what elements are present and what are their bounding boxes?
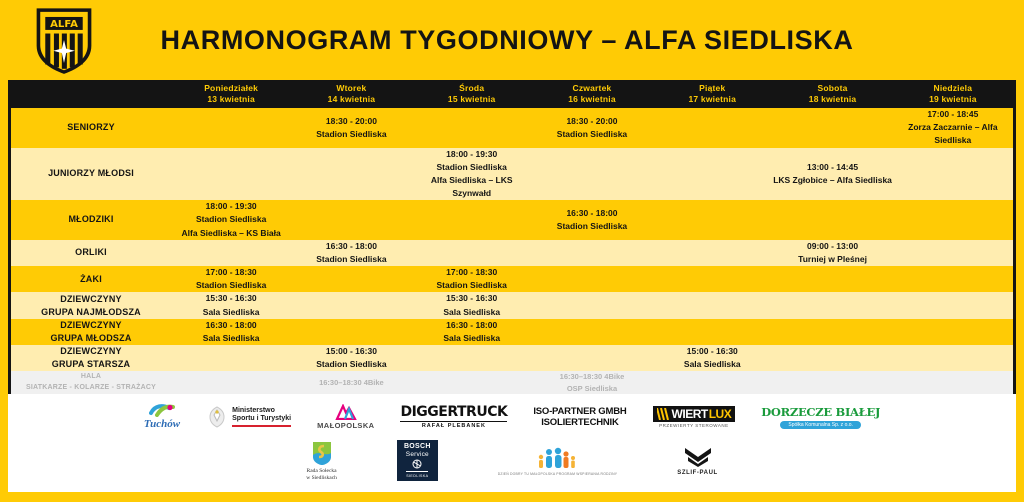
- bosch-armature-icon: [410, 459, 424, 469]
- bosch-line1: BOSCH: [404, 443, 431, 450]
- session-time: 16:30 - 18:00: [412, 319, 532, 332]
- iso-partner-line2: ISOLIERTECHNIK: [541, 417, 618, 428]
- table-row: JUNIORZY MŁODSI18:00 - 19:30Stadion Sied…: [11, 148, 1013, 201]
- day-date-0: 13 kwietnia: [171, 94, 291, 105]
- tuchow-label: Tuchów: [144, 418, 180, 430]
- schedule-cell: 15:00 - 16:30Stadion Siedliska: [291, 345, 411, 371]
- session-place: Sala Siedliska: [171, 306, 291, 319]
- schedule-table-head: Poniedziałek 13 kwietnia Wtorek 14 kwiet…: [11, 80, 1013, 108]
- session-time: 18:00 - 19:30: [171, 200, 291, 213]
- schedule-cell: [893, 240, 1013, 266]
- schedule-cell: 13:00 - 14:45LKS Zgłobice – Alfa Siedlis…: [772, 148, 892, 201]
- day-date-6: 19 kwietnia: [893, 94, 1013, 105]
- schedule-cell: [772, 319, 892, 345]
- session-place: Stadion Siedliska: [412, 279, 532, 292]
- schedule-cell: [772, 200, 892, 240]
- sponsor-logo-dorzecze-bialej: DORZECZE BIAŁEJ Spółka Komunalna Sp. z o…: [761, 405, 880, 429]
- schedule-cell: [412, 240, 532, 266]
- day-name-6: Niedziela: [893, 83, 1013, 94]
- table-row: SENIORZY18:30 - 20:00Stadion Siedliska18…: [11, 108, 1013, 148]
- schedule-cell: [772, 292, 892, 318]
- session-match: Turniej w Pleśnej: [772, 253, 892, 266]
- table-row: ŻAKI17:00 - 18:30Stadion Siedliska17:00 …: [11, 266, 1013, 292]
- day-name-4: Piątek: [652, 83, 772, 94]
- sponsor-logo-ministerstwo: Ministerstwo Sportu i Turystyki: [206, 405, 291, 429]
- day-date-1: 14 kwietnia: [291, 94, 411, 105]
- schedule-cell: [652, 266, 772, 292]
- row-group-label-line2: SIATKARZE - KOLARZE - STRAŻACY: [11, 383, 171, 394]
- day-name-0: Poniedziałek: [171, 83, 291, 94]
- poster-root: ALFA HARMONOGRAM TYGODNIOWY – ALFA SIEDL…: [0, 0, 1024, 496]
- schedule-cell: 18:30 - 20:00Stadion Siedliska: [291, 108, 411, 148]
- schedule-cell: 16:30 - 18:00Sala Siedliska: [171, 319, 291, 345]
- row-group-label-line1: DZIEWCZYNY: [11, 345, 171, 358]
- schedule-cell: [532, 319, 652, 345]
- session-place: Sala Siedliska: [412, 306, 532, 319]
- schedule-cell: 17:00 - 18:30Stadion Siedliska: [171, 266, 291, 292]
- schedule-cell: [772, 371, 892, 394]
- malopolska-mark-icon: [332, 404, 360, 420]
- rada-solecka-text: Rada Sołecka w Siedliskach: [306, 468, 337, 482]
- row-group-label: MŁODZIKI: [11, 200, 171, 240]
- day-date-2: 15 kwietnia: [412, 94, 532, 105]
- session-time: 15:30 - 16:30: [412, 292, 532, 305]
- day-name-3: Czwartek: [532, 83, 652, 94]
- schedule-cell: [532, 148, 652, 201]
- day-date-3: 16 kwietnia: [532, 94, 652, 105]
- row-group-label: DZIEWCZYNYGRUPA STARSZA: [11, 345, 171, 371]
- schedule-cell: [412, 108, 532, 148]
- svg-text:ALFA: ALFA: [50, 19, 78, 30]
- sponsor-logo-malopolska: MAŁOPOLSKA: [317, 404, 374, 430]
- iso-partner-line1: ISO-PARTNER GMBH: [533, 406, 626, 417]
- session-time: 17:00 - 18:30: [412, 266, 532, 279]
- session-time: 17:00 - 18:45: [893, 108, 1013, 121]
- session-time: 15:30 - 16:30: [171, 292, 291, 305]
- ministerstwo-line1: Ministerstwo: [232, 407, 291, 415]
- rada-solecka-crest-icon: [311, 440, 333, 466]
- day-header-5: Sobota 18 kwietnia: [772, 80, 892, 108]
- schedule-cell: 18:00 - 19:30Stadion SiedliskaAlfa Siedl…: [171, 200, 291, 240]
- schedule-cell: [772, 345, 892, 371]
- row-group-label: DZIEWCZYNYGRUPA NAJMŁODSZA: [11, 292, 171, 318]
- schedule-cell: 15:00 - 16:30Sala Siedliska: [652, 345, 772, 371]
- day-date-5: 18 kwietnia: [772, 94, 892, 105]
- schedule-table: Poniedziałek 13 kwietnia Wtorek 14 kwiet…: [11, 80, 1013, 394]
- schedule-cell: [412, 200, 532, 240]
- sponsor-logo-iso-partner: ISO-PARTNER GMBH ISOLIERTECHNIK: [533, 406, 626, 428]
- row-group-label: JUNIORZY MŁODSI: [11, 148, 171, 201]
- schedule-cell: [652, 240, 772, 266]
- session-place: Stadion Siedliska: [412, 161, 532, 174]
- sponsor-logo-wiertlux: WIERTLUX PRZEWIERTY STEROWANE: [653, 406, 736, 428]
- session-place: Sala Siedliska: [412, 332, 532, 345]
- session-time: 15:00 - 16:30: [291, 345, 411, 358]
- day-header-0: Poniedziałek 13 kwietnia: [171, 80, 291, 108]
- day-date-4: 17 kwietnia: [652, 94, 772, 105]
- row-group-label-line2: GRUPA MŁODSZA: [11, 332, 171, 345]
- wiertlux-name2: LUX: [709, 407, 732, 421]
- day-header-1: Wtorek 14 kwietnia: [291, 80, 411, 108]
- session-time: 18:30 - 20:00: [532, 115, 652, 128]
- dorzecze-label: DORZECZE BIAŁEJ: [761, 405, 880, 419]
- schedule-cell: [291, 148, 411, 201]
- schedule-cell: 16:30–18:30 4BikeOSP Siedliska: [532, 371, 652, 394]
- schedule-cell: 16:30 - 18:00Sala Siedliska: [412, 319, 532, 345]
- schedule-cell: [532, 345, 652, 371]
- session-time: 16:30 - 18:00: [532, 207, 652, 220]
- session-place: Stadion Siedliska: [171, 279, 291, 292]
- day-header-3: Czwartek 16 kwietnia: [532, 80, 652, 108]
- sponsor-logo-rada-solecka: Rada Sołecka w Siedliskach: [306, 440, 337, 482]
- schedule-cell: 16:30 - 18:00Stadion Siedliska: [291, 240, 411, 266]
- family-figures-icon: [534, 446, 580, 470]
- table-row: DZIEWCZYNYGRUPA STARSZA15:00 - 16:30Stad…: [11, 345, 1013, 371]
- poster-header: ALFA HARMONOGRAM TYGODNIOWY – ALFA SIEDL…: [0, 0, 1024, 80]
- session-place: Sala Siedliska: [652, 358, 772, 371]
- day-name-1: Wtorek: [291, 83, 411, 94]
- sponsor-row-1: Tuchów Ministerstwo Sportu i Turystyki: [144, 400, 880, 434]
- schedule-cell: [772, 266, 892, 292]
- schedule-cell: 17:00 - 18:45Zorza Zaczarnie – Alfa Sied…: [893, 108, 1013, 148]
- row-group-label: SENIORZY: [11, 108, 171, 148]
- sponsor-logo-szlif-paul: SZLIF-PAUL: [677, 446, 718, 476]
- schedule-cell: [893, 371, 1013, 394]
- session-time: 13:00 - 14:45: [772, 161, 892, 174]
- schedule-cell: [893, 200, 1013, 240]
- session-place: Sala Siedliska: [171, 332, 291, 345]
- schedule-cell: [893, 292, 1013, 318]
- session-match: LKS Zgłobice – Alfa Siedliska: [772, 174, 892, 187]
- schedule-cell: [291, 319, 411, 345]
- schedule-cell: [532, 292, 652, 318]
- sponsor-logo-bosch-service: BOSCH Service SIEDLISKA: [397, 440, 438, 481]
- tuchow-mark-icon: [149, 404, 175, 417]
- session-match: Alfa Siedliska – LKS Szynwałd: [412, 174, 532, 200]
- session-place: Stadion Siedliska: [171, 213, 291, 226]
- schedule-cell: [652, 200, 772, 240]
- schedule-table-wrapper: Poniedziałek 13 kwietnia Wtorek 14 kwiet…: [8, 80, 1016, 394]
- schedule-cell: [893, 319, 1013, 345]
- row-group-label: HALASIATKARZE - KOLARZE - STRAŻACY: [11, 371, 171, 394]
- sponsor-logo-tuchow: Tuchów: [144, 404, 180, 430]
- session-time: 16:30 - 18:00: [171, 319, 291, 332]
- schedule-cell: [652, 292, 772, 318]
- bosch-line3: SIEDLISKA: [406, 471, 428, 478]
- rada-solecka-line1: Rada Sołecka: [307, 468, 337, 474]
- diggertruck-sub: RAFAŁ PLEBANEK: [400, 421, 507, 429]
- session-time: 16:30–18:30 4Bike: [532, 371, 652, 382]
- session-place: Stadion Siedliska: [291, 358, 411, 371]
- schedule-cell: [652, 319, 772, 345]
- schedule-cell: [893, 345, 1013, 371]
- session-match: Zorza Zaczarnie – Alfa Siedliska: [893, 121, 1013, 147]
- group-column-header: [11, 80, 171, 108]
- schedule-cell: [652, 371, 772, 394]
- wiertlux-sub: PRZEWIERTY STEROWANE: [659, 423, 728, 428]
- schedule-cell: 16:30 - 18:00Stadion Siedliska: [532, 200, 652, 240]
- session-time: 18:00 - 19:30: [412, 148, 532, 161]
- schedule-cell: [532, 240, 652, 266]
- schedule-cell: 09:00 - 13:00Turniej w Pleśnej: [772, 240, 892, 266]
- ministerstwo-text: Ministerstwo Sportu i Turystyki: [232, 407, 291, 428]
- session-match: Alfa Siedliska – KS Biała: [171, 227, 291, 240]
- session-time: 15:00 - 16:30: [652, 345, 772, 358]
- row-group-label-line2: GRUPA NAJMŁODSZA: [11, 306, 171, 319]
- schedule-cell: 18:30 - 20:00Stadion Siedliska: [532, 108, 652, 148]
- schedule-cell: 15:30 - 16:30Sala Siedliska: [171, 292, 291, 318]
- diggertruck-label: DIGGERTRUCK: [400, 404, 507, 420]
- sponsor-logo-family-program: DZIEŃ DOBRY TU MAŁOPOLSKA PROGRAM WSPIER…: [498, 446, 618, 477]
- day-header-4: Piątek 17 kwietnia: [652, 80, 772, 108]
- bosch-line2: Service: [406, 451, 429, 458]
- wiertlux-drill-icon: [657, 408, 671, 420]
- session-place: OSP Siedliska: [532, 383, 652, 394]
- sponsor-row-2: Rada Sołecka w Siedliskach BOSCH Service…: [306, 438, 718, 484]
- ministerstwo-line2: Sportu i Turystyki: [232, 415, 291, 423]
- schedule-cell: [291, 266, 411, 292]
- table-row: DZIEWCZYNYGRUPA MŁODSZA16:30 - 18:00Sala…: [11, 319, 1013, 345]
- row-group-label-line2: GRUPA STARSZA: [11, 358, 171, 371]
- alfa-siedliska-crest-icon: ALFA: [28, 4, 100, 76]
- schedule-cell: [171, 345, 291, 371]
- schedule-cell: 17:00 - 18:30Stadion Siedliska: [412, 266, 532, 292]
- wiertlux-name1: WIERT: [672, 407, 708, 421]
- page-title: HARMONOGRAM TYGODNIOWY – ALFA SIEDLISKA: [100, 25, 914, 56]
- rada-solecka-line2: w Siedliskach: [306, 475, 337, 481]
- session-place: Stadion Siedliska: [291, 128, 411, 141]
- table-row: ORLIKI16:30 - 18:00Stadion Siedliska09:0…: [11, 240, 1013, 266]
- schedule-cell: [291, 200, 411, 240]
- session-time: 16:30–18:30 4Bike: [291, 377, 411, 388]
- row-group-label: ŻAKI: [11, 266, 171, 292]
- session-time: 16:30 - 18:00: [291, 240, 411, 253]
- schedule-cell: [893, 266, 1013, 292]
- szlif-paul-label: SZLIF-PAUL: [677, 470, 718, 476]
- session-time: 18:30 - 20:00: [291, 115, 411, 128]
- schedule-cell: [171, 240, 291, 266]
- schedule-cell: [652, 148, 772, 201]
- day-header-row: Poniedziałek 13 kwietnia Wtorek 14 kwiet…: [11, 80, 1013, 108]
- sponsor-logo-diggertruck: DIGGERTRUCK RAFAŁ PLEBANEK: [400, 404, 507, 429]
- row-group-label: ORLIKI: [11, 240, 171, 266]
- table-row: DZIEWCZYNYGRUPA NAJMŁODSZA15:30 - 16:30S…: [11, 292, 1013, 318]
- session-place: Stadion Siedliska: [291, 253, 411, 266]
- szlif-paul-chevron-icon: [683, 446, 713, 468]
- day-header-6: Niedziela 19 kwietnia: [893, 80, 1013, 108]
- row-group-label: DZIEWCZYNYGRUPA MŁODSZA: [11, 319, 171, 345]
- wiertlux-bar: WIERTLUX: [653, 406, 736, 422]
- day-name-2: Środa: [412, 83, 532, 94]
- footer-bar: [0, 492, 1024, 502]
- family-program-sub: DZIEŃ DOBRY TU MAŁOPOLSKA PROGRAM WSPIER…: [498, 472, 618, 477]
- schedule-cell: [532, 266, 652, 292]
- malopolska-label: MAŁOPOLSKA: [317, 421, 374, 430]
- row-group-label-line1: DZIEWCZYNY: [11, 293, 171, 306]
- schedule-cell: [171, 148, 291, 201]
- schedule-cell: 15:30 - 16:30Sala Siedliska: [412, 292, 532, 318]
- sponsor-strip: Tuchów Ministerstwo Sportu i Turystyki: [8, 394, 1016, 492]
- table-row: HALASIATKARZE - KOLARZE - STRAŻACY16:30–…: [11, 371, 1013, 394]
- session-time: 17:00 - 18:30: [171, 266, 291, 279]
- table-row: MŁODZIKI18:00 - 19:30Stadion SiedliskaAl…: [11, 200, 1013, 240]
- schedule-table-body: SENIORZY18:30 - 20:00Stadion Siedliska18…: [11, 108, 1013, 394]
- schedule-cell: [772, 108, 892, 148]
- schedule-cell: [171, 108, 291, 148]
- day-header-2: Środa 15 kwietnia: [412, 80, 532, 108]
- row-group-label-line1: HALA: [11, 372, 171, 383]
- schedule-cell: 16:30–18:30 4Bike: [291, 371, 411, 394]
- dorzecze-sub: Spółka Komunalna Sp. z o.o.: [780, 421, 861, 429]
- schedule-cell: 18:00 - 19:30Stadion SiedliskaAlfa Siedl…: [412, 148, 532, 201]
- polish-eagle-icon: [206, 405, 228, 429]
- session-place: Stadion Siedliska: [532, 128, 652, 141]
- schedule-cell: [412, 371, 532, 394]
- schedule-cell: [291, 292, 411, 318]
- schedule-cell: [412, 345, 532, 371]
- bosch-box: BOSCH Service SIEDLISKA: [397, 440, 438, 481]
- schedule-cell: [171, 371, 291, 394]
- schedule-cell: [893, 148, 1013, 201]
- session-place: Stadion Siedliska: [532, 220, 652, 233]
- schedule-cell: [652, 108, 772, 148]
- day-name-5: Sobota: [772, 83, 892, 94]
- row-group-label-line1: DZIEWCZYNY: [11, 319, 171, 332]
- session-time: 09:00 - 13:00: [772, 240, 892, 253]
